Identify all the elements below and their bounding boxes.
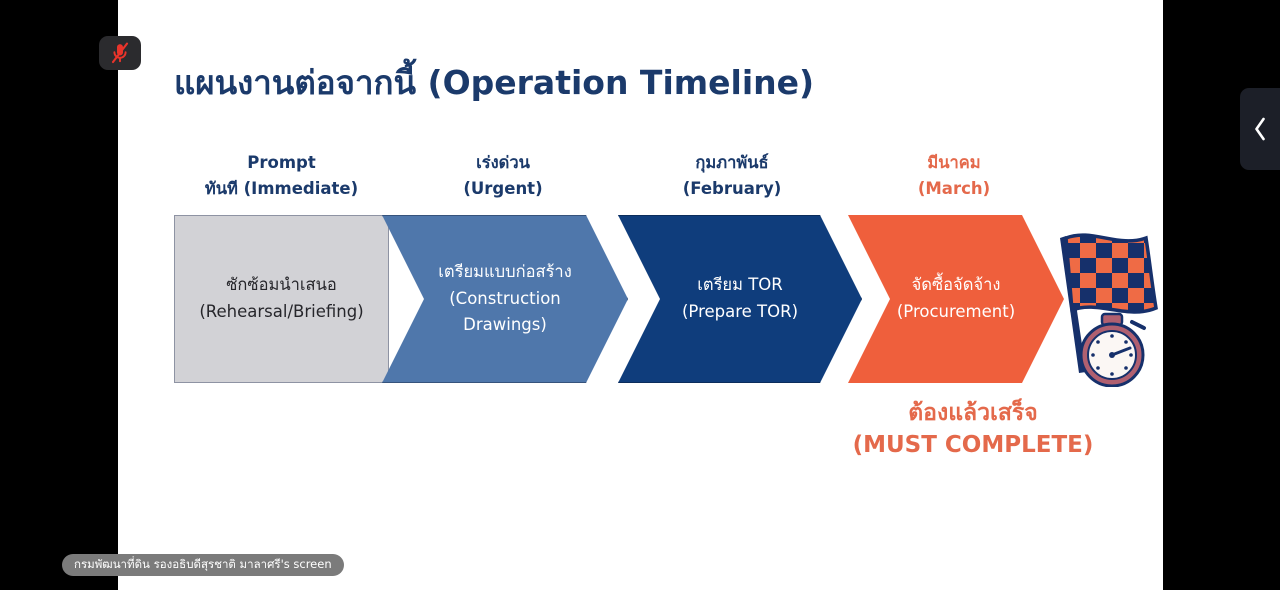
collapse-panel-button[interactable]	[1240, 88, 1280, 170]
timeline-step-2-line1: เตรียมแบบก่อสร้าง	[438, 259, 572, 286]
timeline-step-1-line1: ซักซ้อมนำเสนอ	[199, 272, 363, 299]
left-letterbox	[0, 0, 118, 590]
timeline-step-3-line1: เตรียม TOR	[682, 272, 798, 299]
must-complete-caption: ต้องแล้วเสร็จ (MUST COMPLETE)	[808, 398, 1138, 461]
timeline-step-4-line1: จัดซื้อจัดจ้าง	[897, 272, 1015, 299]
timeline-header-2-line1: เร่งด่วน	[388, 150, 618, 176]
screen-share-label: กรมพัฒนาที่ดิน รองอธิบดีสุรชาติ มาลาศรี'…	[62, 554, 344, 576]
timeline-header-4-line1: มีนาคม	[844, 150, 1064, 176]
timeline-step-3-line2: (Prepare TOR)	[682, 299, 798, 326]
timeline-header-1: Prompt ทันที (Immediate)	[174, 150, 389, 201]
must-complete-line2: (MUST COMPLETE)	[808, 430, 1138, 462]
timeline-header-2: เร่งด่วน (Urgent)	[388, 150, 618, 201]
timeline-flow: ซักซ้อมนำเสนอ (Rehearsal/Briefing) เตรีย…	[118, 215, 1163, 383]
timeline-step-2-line2: (Construction	[438, 286, 572, 313]
timeline-header-3: กุมภาพันธ์ (February)	[618, 150, 846, 201]
timeline-header-1-line1: Prompt	[174, 150, 389, 176]
presentation-slide: แผนงานต่อจากนี้ (Operation Timeline) Pro…	[118, 0, 1163, 590]
timeline-step-4-line2: (Procurement)	[897, 299, 1015, 326]
chevron-left-icon	[1251, 115, 1269, 143]
timeline-headers: Prompt ทันที (Immediate) เร่งด่วน (Urgen…	[118, 150, 1163, 208]
timeline-step-2-label: เตรียมแบบก่อสร้าง (Construction Drawings…	[432, 259, 578, 339]
timeline-header-3-line1: กุมภาพันธ์	[618, 150, 846, 176]
microphone-muted-icon	[110, 42, 130, 64]
timeline-step-immediate: ซักซ้อมนำเสนอ (Rehearsal/Briefing)	[174, 215, 389, 383]
timeline-header-4: มีนาคม (March)	[844, 150, 1064, 201]
timeline-step-march: จัดซื้อจัดจ้าง (Procurement)	[848, 215, 1064, 383]
timeline-step-2-line3: Drawings)	[438, 312, 572, 339]
zoom-screen-share-view: แผนงานต่อจากนี้ (Operation Timeline) Pro…	[0, 0, 1280, 590]
timeline-step-urgent: เตรียมแบบก่อสร้าง (Construction Drawings…	[382, 215, 628, 383]
page-title: แผนงานต่อจากนี้ (Operation Timeline)	[174, 56, 814, 109]
timeline-header-3-line2: (February)	[618, 176, 846, 202]
timeline-step-1-line2: (Rehearsal/Briefing)	[199, 299, 363, 326]
microphone-muted-badge[interactable]	[99, 36, 141, 70]
timeline-header-1-line2: ทันที (Immediate)	[174, 176, 389, 202]
timeline-step-february: เตรียม TOR (Prepare TOR)	[618, 215, 862, 383]
timeline-header-2-line2: (Urgent)	[388, 176, 618, 202]
timeline-step-1-label: ซักซ้อมนำเสนอ (Rehearsal/Briefing)	[193, 272, 369, 325]
timeline-step-4-label: จัดซื้อจัดจ้าง (Procurement)	[891, 272, 1021, 325]
timeline-step-3-label: เตรียม TOR (Prepare TOR)	[676, 272, 804, 325]
must-complete-line1: ต้องแล้วเสร็จ	[808, 398, 1138, 430]
timeline-header-4-line2: (March)	[844, 176, 1064, 202]
